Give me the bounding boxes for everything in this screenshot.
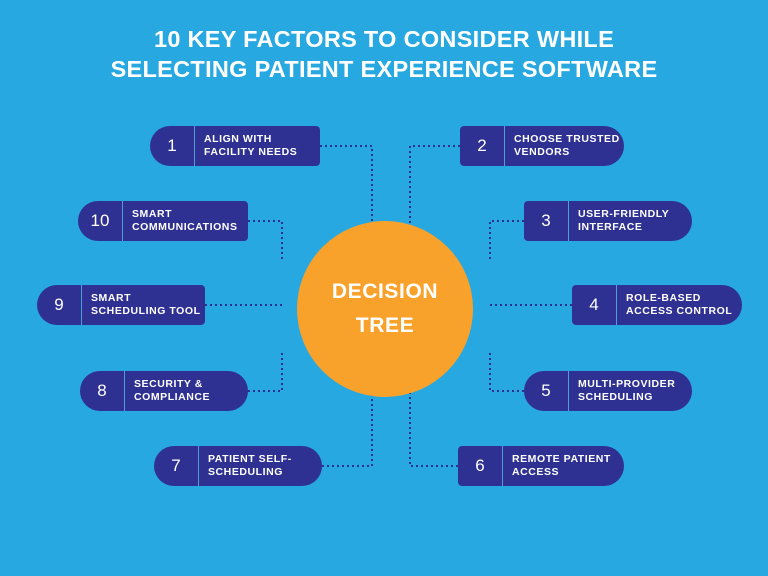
factor-label-6: REMOTE PATIENT ACCESS bbox=[503, 446, 624, 486]
connector-8 bbox=[248, 350, 282, 391]
factor-label-8: SECURITY & COMPLIANCE bbox=[125, 371, 248, 411]
center-line-1: DECISION bbox=[332, 275, 438, 309]
factor-label-7: PATIENT SELF- SCHEDULING bbox=[199, 446, 322, 486]
factor-badge-3: 3 bbox=[524, 201, 569, 241]
title-line-1: 10 KEY FACTORS TO CONSIDER WHILE bbox=[0, 24, 768, 54]
factor-label-5: MULTI-PROVIDER SCHEDULING bbox=[569, 371, 692, 411]
factor-badge-10: 10 bbox=[78, 201, 123, 241]
factor-node-7[interactable]: 7 PATIENT SELF- SCHEDULING bbox=[154, 446, 322, 486]
factor-node-5[interactable]: 5 MULTI-PROVIDER SCHEDULING bbox=[524, 371, 692, 411]
factor-badge-5: 5 bbox=[524, 371, 569, 411]
factor-badge-6: 6 bbox=[458, 446, 503, 486]
factor-label-1: ALIGN WITH FACILITY NEEDS bbox=[195, 126, 320, 166]
factor-label-10: SMART COMMUNICATIONS bbox=[123, 201, 248, 241]
factor-badge-7: 7 bbox=[154, 446, 199, 486]
factor-badge-8: 8 bbox=[80, 371, 125, 411]
connector-2 bbox=[410, 146, 460, 238]
factor-node-3[interactable]: 3 USER-FRIENDLY INTERFACE bbox=[524, 201, 692, 241]
factor-node-6[interactable]: 6 REMOTE PATIENT ACCESS bbox=[458, 446, 624, 486]
factor-node-4[interactable]: 4 ROLE-BASED ACCESS CONTROL bbox=[572, 285, 742, 325]
connector-6 bbox=[410, 378, 458, 466]
factor-node-9[interactable]: 9 SMART SCHEDULING TOOL bbox=[37, 285, 205, 325]
center-line-2: TREE bbox=[356, 309, 414, 343]
infographic-canvas: 10 KEY FACTORS TO CONSIDER WHILE SELECTI… bbox=[0, 0, 768, 576]
title-line-2: SELECTING PATIENT EXPERIENCE SOFTWARE bbox=[0, 54, 768, 84]
factor-label-2: CHOOSE TRUSTED VENDORS bbox=[505, 126, 630, 166]
factor-badge-9: 9 bbox=[37, 285, 82, 325]
factor-badge-4: 4 bbox=[572, 285, 617, 325]
factor-badge-2: 2 bbox=[460, 126, 505, 166]
factor-badge-1: 1 bbox=[150, 126, 195, 166]
connector-5 bbox=[490, 350, 524, 391]
connector-3 bbox=[490, 221, 524, 262]
factor-label-9: SMART SCHEDULING TOOL bbox=[82, 285, 211, 325]
factor-label-3: USER-FRIENDLY INTERFACE bbox=[569, 201, 692, 241]
factor-label-4: ROLE-BASED ACCESS CONTROL bbox=[617, 285, 742, 325]
factor-node-2[interactable]: 2 CHOOSE TRUSTED VENDORS bbox=[460, 126, 624, 166]
factor-node-8[interactable]: 8 SECURITY & COMPLIANCE bbox=[80, 371, 248, 411]
factor-node-1[interactable]: 1 ALIGN WITH FACILITY NEEDS bbox=[150, 126, 320, 166]
page-title: 10 KEY FACTORS TO CONSIDER WHILE SELECTI… bbox=[0, 24, 768, 84]
connector-10 bbox=[248, 221, 282, 262]
center-node: DECISION TREE bbox=[297, 221, 473, 397]
factor-node-10[interactable]: 10 SMART COMMUNICATIONS bbox=[78, 201, 248, 241]
